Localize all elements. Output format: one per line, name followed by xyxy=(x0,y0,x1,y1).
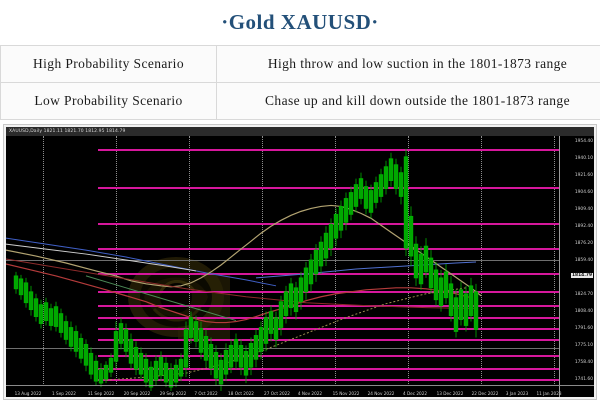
candle xyxy=(29,286,33,316)
candle xyxy=(54,302,58,332)
candle xyxy=(39,300,43,329)
scenario-table: High Probability Scenario High throw and… xyxy=(0,45,600,120)
candle xyxy=(239,339,243,375)
candle xyxy=(274,312,278,348)
candle xyxy=(114,322,118,370)
current-price-label: 1814.79 xyxy=(571,273,593,278)
date-tick: 13 Aug 2022 xyxy=(15,391,42,396)
candle xyxy=(199,322,203,360)
candle xyxy=(159,351,163,381)
price-tick: 1921.60 xyxy=(575,173,593,178)
candle xyxy=(14,272,18,294)
chart-plot-area[interactable] xyxy=(6,127,594,397)
candle xyxy=(289,278,293,316)
candle xyxy=(394,159,398,195)
candle xyxy=(469,278,473,322)
gold-analysis-page: ·Gold XAUUSD· High Probability Scenario … xyxy=(0,0,600,403)
candlestick-series xyxy=(6,127,594,397)
candle xyxy=(324,226,328,266)
candle xyxy=(264,312,268,352)
candle xyxy=(79,333,83,363)
price-axis: 1954.40 1940.10 1921.60 1904.60 1909.40 … xyxy=(559,127,594,397)
candle-group xyxy=(14,149,478,391)
candle xyxy=(124,324,128,358)
candle xyxy=(204,330,208,368)
candle xyxy=(389,153,393,187)
candle xyxy=(234,333,238,369)
date-axis: 13 Aug 2022 1 Sep 2022 11 Sep 2022 20 Se… xyxy=(6,385,594,397)
candle xyxy=(154,355,158,385)
table-row: Low Probability Scenario Chase up and ki… xyxy=(1,83,600,120)
price-tick: 1775.10 xyxy=(575,343,593,348)
high-probability-value: High throw and low suction in the 1801-1… xyxy=(217,46,600,83)
price-tick: 1904.60 xyxy=(575,190,593,195)
page-title: ·Gold XAUUSD· xyxy=(221,10,379,35)
candle xyxy=(379,169,383,203)
date-tick: 29 Sep 2022 xyxy=(160,391,187,396)
price-tick: 1909.40 xyxy=(575,207,593,212)
candle xyxy=(34,294,38,322)
high-probability-label: High Probability Scenario xyxy=(1,46,217,83)
candle xyxy=(474,284,478,338)
candle xyxy=(464,286,468,332)
candle xyxy=(89,347,93,379)
candle xyxy=(299,272,303,310)
price-tick: 1824.70 xyxy=(575,292,593,297)
candle xyxy=(164,357,168,387)
candle xyxy=(74,326,78,358)
candle xyxy=(269,306,273,342)
candle xyxy=(424,238,428,278)
price-tick: 1859.40 xyxy=(575,258,593,263)
candle xyxy=(359,173,363,205)
date-tick: 27 Oct 2022 xyxy=(264,391,290,396)
candle xyxy=(59,309,63,338)
candle xyxy=(404,149,408,256)
date-tick: 20 Sep 2022 xyxy=(124,391,151,396)
candle xyxy=(259,322,263,360)
price-tick: 1954.40 xyxy=(575,139,593,144)
candle xyxy=(64,316,68,345)
date-tick: 4 Nov 2022 xyxy=(298,391,322,396)
candle xyxy=(84,339,88,371)
candle xyxy=(349,187,353,221)
candle xyxy=(374,177,378,209)
candle xyxy=(319,236,323,274)
chart-symbol-header: XAUUSD,Daily 1821.11 1821.70 1812.95 181… xyxy=(6,127,594,136)
candle xyxy=(119,318,123,350)
candle xyxy=(224,343,228,381)
candle xyxy=(309,254,313,292)
candle xyxy=(249,337,253,375)
date-tick: 1 Sep 2022 xyxy=(52,391,76,396)
candle xyxy=(94,355,98,385)
candle xyxy=(294,282,298,320)
price-tick: 1758.40 xyxy=(575,360,593,365)
candle xyxy=(439,270,443,312)
candle xyxy=(354,179,358,213)
candle xyxy=(19,275,23,300)
candle xyxy=(49,304,53,331)
price-tick: 1808.40 xyxy=(575,309,593,314)
low-probability-value: Chase up and kill down outside the 1801-… xyxy=(217,83,600,120)
date-tick: 11 Jan 2023 xyxy=(536,391,561,396)
date-tick: 13 Dec 2022 xyxy=(437,391,464,396)
candle xyxy=(429,250,433,294)
candle xyxy=(144,353,148,387)
candle xyxy=(409,206,413,266)
date-tick: 22 Dec 2022 xyxy=(472,391,499,396)
mt4-chart[interactable]: XAUUSD,Daily 1821.11 1821.70 1812.95 181… xyxy=(6,127,594,397)
price-tick: 1876.20 xyxy=(575,241,593,246)
chart-frame: XAUUSD,Daily 1821.11 1821.70 1812.95 181… xyxy=(3,124,597,400)
candle xyxy=(69,322,73,352)
candle xyxy=(284,286,288,324)
date-tick: 7 Oct 2022 xyxy=(194,391,217,396)
candle xyxy=(109,353,113,377)
candle xyxy=(229,339,233,373)
table-row: High Probability Scenario High throw and… xyxy=(1,46,600,83)
candle xyxy=(384,161,388,195)
candle xyxy=(134,341,138,375)
candle xyxy=(364,181,368,215)
price-tick: 1892.40 xyxy=(575,224,593,229)
candle xyxy=(454,290,458,338)
date-tick: 3 Jan 2023 xyxy=(506,391,528,396)
candle xyxy=(334,208,338,246)
candle xyxy=(214,345,218,385)
candle xyxy=(99,363,103,387)
candle xyxy=(174,359,178,387)
date-tick: 15 Nov 2022 xyxy=(333,391,360,396)
candle xyxy=(414,236,418,286)
price-tick: 1741.60 xyxy=(575,377,593,382)
candle xyxy=(444,264,448,304)
candle xyxy=(254,330,258,368)
candle xyxy=(189,312,193,344)
date-tick: 24 Nov 2022 xyxy=(368,391,395,396)
candle xyxy=(369,185,373,219)
candle xyxy=(339,200,343,238)
candle xyxy=(279,296,283,336)
candle xyxy=(304,262,308,300)
candle xyxy=(344,193,348,231)
candle xyxy=(459,282,463,326)
page-title-bar: ·Gold XAUUSD· xyxy=(0,0,600,45)
date-tick: 4 Dec 2022 xyxy=(403,391,427,396)
candle xyxy=(44,298,48,326)
date-tick: 18 Oct 2022 xyxy=(228,391,254,396)
candle xyxy=(399,167,403,205)
candle xyxy=(139,347,143,379)
candle xyxy=(419,246,423,290)
candle xyxy=(129,333,133,369)
price-tick: 1791.60 xyxy=(575,326,593,331)
candle xyxy=(194,316,198,348)
candle xyxy=(179,353,183,381)
candle xyxy=(104,361,108,383)
candle xyxy=(449,276,453,322)
date-tick: 11 Sep 2022 xyxy=(88,391,115,396)
low-probability-label: Low Probability Scenario xyxy=(1,83,217,120)
candle xyxy=(24,278,28,308)
candle xyxy=(184,322,188,378)
candle xyxy=(209,337,213,375)
candle xyxy=(244,345,248,383)
price-tick: 1940.10 xyxy=(575,156,593,161)
candle xyxy=(434,262,438,306)
candle xyxy=(329,218,333,256)
candle xyxy=(314,244,318,282)
